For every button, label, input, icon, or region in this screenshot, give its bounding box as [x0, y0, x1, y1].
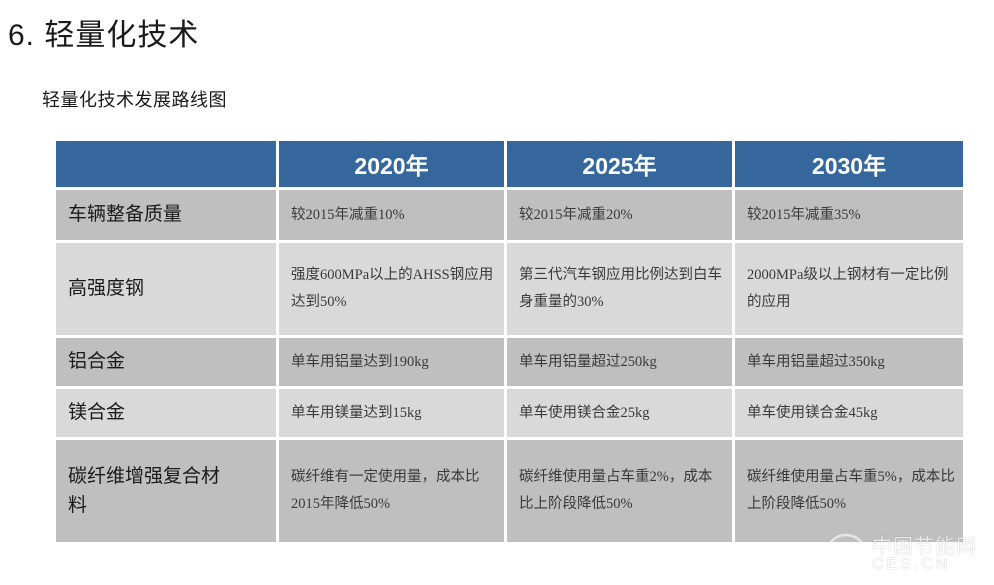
page-title: 6. 轻量化技术 — [8, 10, 199, 54]
row-value-2025: 单车使用镁合金25kg — [507, 389, 732, 437]
row-category-label: 铝合金 — [68, 347, 276, 376]
row-value-2020: 单车用铝量达到190kg — [279, 338, 504, 386]
row-value-2030-text: 单车用铝量超过350kg — [747, 349, 957, 376]
row-value-2025-text: 碳纤维使用量占车重2%，成本比上阶段降低50% — [519, 464, 726, 518]
table-header: 2020年 2025年 2030年 — [56, 141, 963, 187]
slide-root: { "slide": { "title": "6. 轻量化技术", "sub_h… — [0, 0, 994, 585]
row-value-2020: 较2015年减重10% — [279, 190, 504, 240]
row-value-2020-text: 单车用镁量达到15kg — [291, 400, 498, 427]
header-cell-2025: 2025年 — [507, 141, 732, 187]
table-header-row: 2020年 2025年 2030年 — [56, 141, 963, 187]
lightweight-roadmap-table: 2020年 2025年 2030年 车辆整备质量 较2015年减重10% 较20… — [53, 138, 966, 545]
header-cell-blank — [56, 141, 276, 187]
table-row: 镁合金 单车用镁量达到15kg 单车使用镁合金25kg 单车使用镁合金45kg — [56, 389, 963, 437]
header-cell-2020: 2020年 — [279, 141, 504, 187]
row-category-cell: 碳纤维增强复合材料 — [56, 440, 276, 542]
row-value-2025-text: 单车使用镁合金25kg — [519, 400, 726, 427]
row-value-2025: 较2015年减重20% — [507, 190, 732, 240]
header-label-2030: 2030年 — [735, 147, 963, 181]
row-category-label: 车辆整备质量 — [68, 200, 276, 229]
row-value-2020-text: 碳纤维有一定使用量，成本比2015年降低50% — [291, 464, 498, 518]
row-value-2025-text: 第三代汽车钢应用比例达到白车身重量的30% — [519, 262, 726, 316]
row-value-2030-text: 碳纤维使用量占车重5%，成本比上阶段降低50% — [747, 464, 957, 518]
row-value-2030: 较2015年减重35% — [735, 190, 963, 240]
row-value-2025-text: 单车用铝量超过250kg — [519, 349, 726, 376]
row-category-cell: 高强度钢 — [56, 243, 276, 335]
row-value-2030: 单车用铝量超过350kg — [735, 338, 963, 386]
row-value-2030: 2000MPa级以上钢材有一定比例的应用 — [735, 243, 963, 335]
row-category-cell: 车辆整备质量 — [56, 190, 276, 240]
row-value-2020-text: 强度600MPa以上的AHSS钢应用达到50% — [291, 262, 498, 316]
row-value-2020: 碳纤维有一定使用量，成本比2015年降低50% — [279, 440, 504, 542]
row-value-2020-text: 较2015年减重10% — [291, 202, 498, 229]
row-category-label: 高强度钢 — [68, 274, 276, 303]
row-value-2030: 碳纤维使用量占车重5%，成本比上阶段降低50% — [735, 440, 963, 542]
row-value-2025: 第三代汽车钢应用比例达到白车身重量的30% — [507, 243, 732, 335]
row-category-label: 碳纤维增强复合材料 — [68, 462, 238, 521]
table-row: 铝合金 单车用铝量达到190kg 单车用铝量超过250kg 单车用铝量超过350… — [56, 338, 963, 386]
row-value-2020: 强度600MPa以上的AHSS钢应用达到50% — [279, 243, 504, 335]
row-category-cell: 镁合金 — [56, 389, 276, 437]
row-value-2025: 单车用铝量超过250kg — [507, 338, 732, 386]
row-value-2030-text: 单车使用镁合金45kg — [747, 400, 957, 427]
watermark-en-text: CES.CN — [872, 556, 950, 574]
row-value-2025: 碳纤维使用量占车重2%，成本比上阶段降低50% — [507, 440, 732, 542]
section-subtitle: 轻量化技术发展路线图 — [42, 86, 227, 112]
row-value-2025-text: 较2015年减重20% — [519, 202, 726, 229]
header-label-2020: 2020年 — [279, 147, 504, 181]
row-value-2020-text: 单车用铝量达到190kg — [291, 349, 498, 376]
row-category-cell: 铝合金 — [56, 338, 276, 386]
row-value-2030-text: 2000MPa级以上钢材有一定比例的应用 — [747, 262, 957, 316]
table-body: 车辆整备质量 较2015年减重10% 较2015年减重20% 较2015年减重3… — [56, 190, 963, 542]
header-label-2025: 2025年 — [507, 147, 732, 181]
row-category-label: 镁合金 — [68, 398, 276, 427]
row-value-2030: 单车使用镁合金45kg — [735, 389, 963, 437]
table-row: 车辆整备质量 较2015年减重10% 较2015年减重20% 较2015年减重3… — [56, 190, 963, 240]
table-row: 碳纤维增强复合材料 碳纤维有一定使用量，成本比2015年降低50% 碳纤维使用量… — [56, 440, 963, 542]
row-value-2020: 单车用镁量达到15kg — [279, 389, 504, 437]
header-cell-2030: 2030年 — [735, 141, 963, 187]
row-value-2030-text: 较2015年减重35% — [747, 202, 957, 229]
table-row: 高强度钢 强度600MPa以上的AHSS钢应用达到50% 第三代汽车钢应用比例达… — [56, 243, 963, 335]
